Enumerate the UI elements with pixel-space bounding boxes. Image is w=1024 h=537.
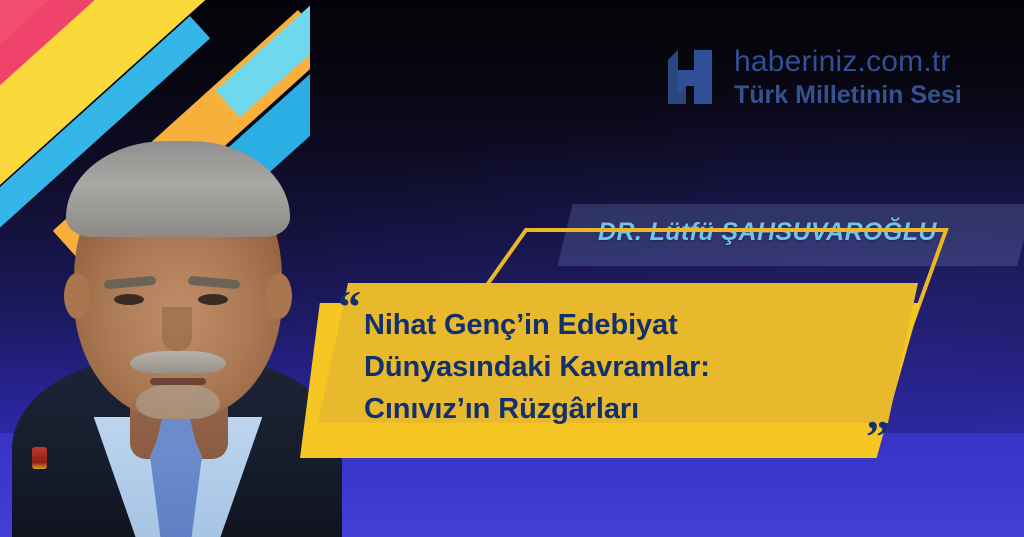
- article-title-line-1: Nihat Genç’in Edebiyat: [364, 305, 924, 347]
- article-title-line-2: Dünyasındaki Kavramlar:: [364, 347, 924, 389]
- site-branding[interactable]: haberiniz.com.tr Türk Milletinin Sesi: [664, 46, 962, 108]
- mouth: [150, 378, 206, 385]
- ear-right: [266, 273, 292, 319]
- author-name: DR. Lütfü ŞAHSUVAROĞLU: [598, 218, 1024, 247]
- hair: [66, 141, 290, 237]
- author-portrait: [18, 67, 338, 537]
- article-title-line-3: Cınıvız’ın Rüzgârları: [364, 389, 924, 431]
- site-branding-text: haberiniz.com.tr Türk Milletinin Sesi: [734, 47, 962, 108]
- chin-stubble: [136, 385, 220, 419]
- site-name: haberiniz.com.tr: [734, 47, 962, 77]
- ear-left: [64, 273, 90, 319]
- flag-lapel-pin-icon: [32, 447, 47, 469]
- mustache: [130, 351, 226, 373]
- haberiniz-h-logo-icon: [664, 46, 716, 108]
- cover-card: haberiniz.com.tr Türk Milletinin Sesi DR…: [0, 0, 1024, 537]
- site-tagline: Türk Milletinin Sesi: [734, 83, 962, 108]
- quote-open-icon: “: [338, 284, 361, 330]
- eye-left: [114, 294, 144, 305]
- article-title: Nihat Genç’in Edebiyat Dünyasındaki Kavr…: [364, 305, 924, 430]
- nose: [162, 307, 192, 351]
- eye-right: [198, 294, 228, 305]
